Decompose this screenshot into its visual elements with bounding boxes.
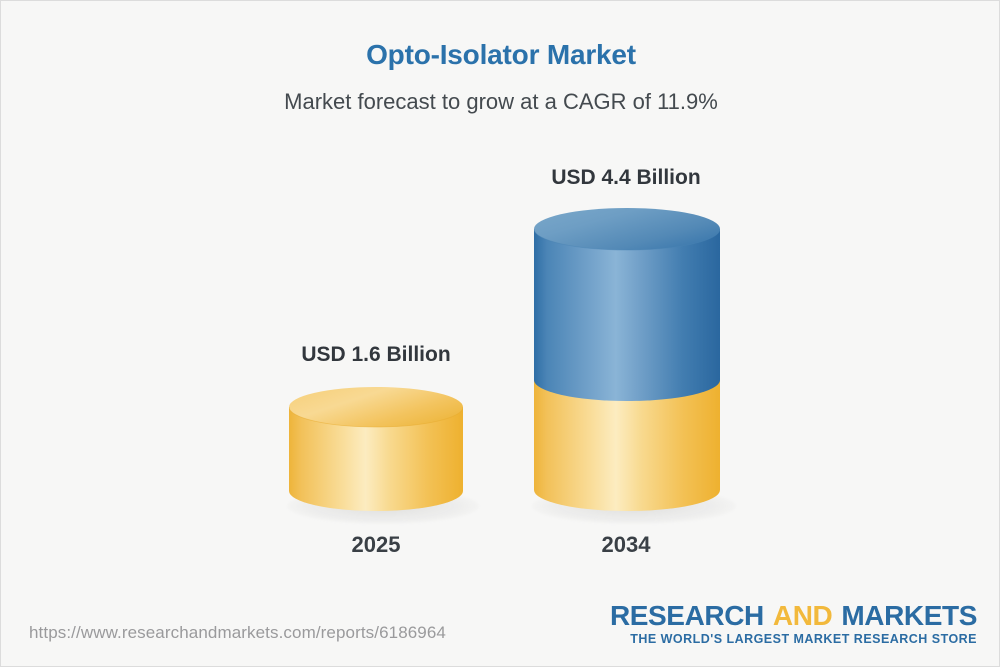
infographic-canvas: Opto-Isolator Market Market forecast to … — [0, 0, 1000, 667]
brand-word-markets: MARKETS — [841, 600, 977, 631]
value-label-2034: USD 4.4 Billion — [466, 166, 786, 190]
page-title: Opto-Isolator Market — [1, 39, 1000, 71]
brand-name: RESEARCHANDMARKETS — [610, 601, 977, 630]
brand-word-and: AND — [773, 600, 832, 631]
brand-logo[interactable]: RESEARCHANDMARKETS THE WORLD'S LARGEST M… — [610, 601, 977, 646]
bar-cylinder-2025 — [289, 387, 463, 511]
bar-cylinder-2034 — [534, 208, 720, 511]
bar-body-upper-2034 — [534, 229, 720, 401]
value-label-2025: USD 1.6 Billion — [216, 343, 536, 367]
chart-subtitle: Market forecast to grow at a CAGR of 11.… — [1, 89, 1000, 115]
source-url[interactable]: https://www.researchandmarkets.com/repor… — [29, 623, 446, 643]
brand-tagline: THE WORLD'S LARGEST MARKET RESEARCH STOR… — [610, 632, 977, 646]
brand-word-research: RESEARCH — [610, 600, 764, 631]
category-label-2034: 2034 — [466, 532, 786, 558]
